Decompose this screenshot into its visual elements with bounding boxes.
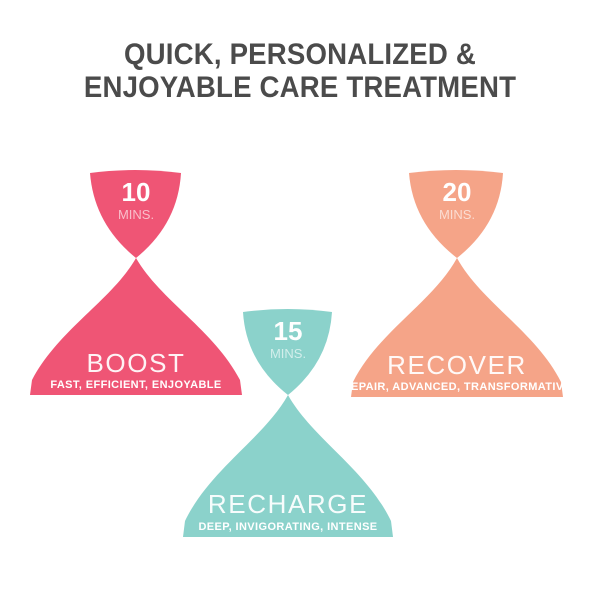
recover-duration-value: 20	[443, 177, 472, 207]
hourglass-boost[interactable]: 10 MINS. BOOST FAST, EFFICIENT, ENJOYABL…	[30, 170, 242, 395]
boost-tagline: FAST, EFFICIENT, ENJOYABLE	[50, 379, 221, 391]
recharge-duration-unit: MINS.	[270, 346, 306, 361]
hourglass-diagram: 10 MINS. BOOST FAST, EFFICIENT, ENJOYABL…	[0, 0, 600, 600]
recharge-tagline: DEEP, INVIGORATING, INTENSE	[198, 521, 377, 533]
hourglass-recover[interactable]: 20 MINS. RECOVER REPAIR, ADVANCED, TRANS…	[343, 170, 572, 397]
boost-duration-unit: MINS.	[118, 207, 154, 222]
hourglass-recharge[interactable]: 15 MINS. RECHARGE DEEP, INVIGORATING, IN…	[183, 309, 393, 537]
recover-name: RECOVER	[387, 350, 527, 380]
infographic-canvas: QUICK, PERSONALIZED & ENJOYABLE CARE TRE…	[0, 0, 600, 600]
recharge-duration-value: 15	[274, 316, 303, 346]
recover-tagline: REPAIR, ADVANCED, TRANSFORMATIVE	[343, 381, 572, 393]
recharge-name: RECHARGE	[208, 489, 368, 519]
boost-duration-value: 10	[122, 177, 151, 207]
recover-duration-unit: MINS.	[439, 207, 475, 222]
boost-name: BOOST	[86, 348, 185, 378]
